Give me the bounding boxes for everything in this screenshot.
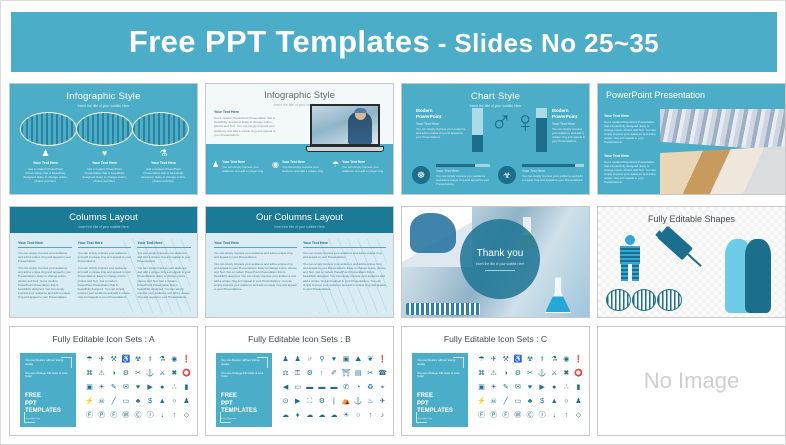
icon-cell: ▣: [84, 381, 95, 394]
column-paragraph-1: You can simply impress your audience and…: [303, 251, 386, 259]
slide-title: PowerPoint Presentation: [598, 84, 785, 100]
icon-cell: ▮: [181, 381, 192, 394]
icon-cell: ○: [353, 409, 364, 422]
icon-cell: ☢: [132, 353, 143, 366]
slide-header: Our Columns Layout Insert the title of y…: [206, 207, 393, 233]
icon-cell: ⚙: [304, 367, 315, 380]
icon-cell: ♪: [377, 409, 388, 422]
banner-title-main: Free PPT Templates: [129, 24, 430, 59]
icon-cell: Ⓒ: [524, 409, 535, 422]
icon-cell: ◇: [181, 409, 192, 422]
icon-cell: ♣: [132, 395, 143, 408]
slide-thumbnail-columns-layout[interactable]: Columns Layout Insert the title of your …: [9, 206, 198, 318]
slide-title: Our Columns Layout: [206, 207, 393, 223]
icon-cell: ♨: [365, 395, 376, 408]
slide-header: Columns Layout Insert the title of your …: [10, 207, 197, 233]
icon-cell: ✈: [96, 353, 107, 366]
icon-cell: ○: [169, 395, 180, 408]
card-templates-label: TEMPLATES: [417, 408, 453, 414]
block-body: Get a modern PowerPoint Presentation tha…: [604, 160, 658, 184]
icon-cell: ◇: [573, 409, 584, 422]
banner-title-separator: -: [430, 28, 454, 58]
progress-bar: [522, 164, 584, 167]
icon-cell: ⚠: [488, 367, 499, 380]
dna-strand-icon: [132, 112, 189, 146]
biohazard-icon: ☣: [498, 166, 516, 184]
icon-cell: ◉: [169, 353, 180, 366]
card-free-label: FREE: [25, 393, 41, 399]
icon-cell: Ⓒ: [132, 409, 143, 422]
icon-cell: ▶: [145, 381, 156, 394]
icon-grid-b: ♟♟♂⚲♥▣⛰❦❗⚖⚿⚙↑✐⛩▤✂☎◀▭▬▬▬✆◔♻⌖⊙▶⛶⚙❘⛺⚓♨✈☁♦☁☁…: [280, 353, 388, 422]
icon-cell: ☀: [96, 381, 107, 394]
row-heading: Your Text Here: [436, 169, 490, 173]
icon-cell: ♣: [524, 395, 535, 408]
column-heading: Your Text Here: [214, 241, 297, 248]
icon-cell: ↓: [157, 409, 168, 422]
droplet-icon: ☂: [332, 160, 339, 173]
text-column: Your Text Here You can simply impress yo…: [303, 241, 386, 291]
slide-thumbnail-chart-style[interactable]: Chart Style Insert the title of your sub…: [401, 83, 590, 195]
icon-cell: ☂: [84, 353, 95, 366]
icon-cell: ⚗: [157, 353, 168, 366]
icon-cell: ♿: [120, 353, 131, 366]
icon-grid-a: ☂✈⚒♿☢⚕⚗◉❗⌘⚠◑⚙✂⚓⚔✖⭕▣☀✎✉♥▶●∴▮⚡☠╱▭♣$▲○♟ⒻⓅⒻⓌ…: [84, 353, 192, 422]
feature-column: ⚗ Your Text Here Get a modern PowerPoint…: [138, 148, 190, 183]
icon-cell: ↑: [169, 409, 180, 422]
right-body: You can simply impress your audience and…: [552, 127, 588, 143]
item-body: You can simply impress your audience and…: [222, 165, 269, 173]
card-line-2: You can Change Fill Color & Line Color: [221, 372, 267, 380]
column-heading: Your Text Here: [303, 241, 386, 248]
card-url: www.allppt.com: [25, 418, 71, 420]
card-line-1: You can Resize without losing quality: [417, 359, 463, 367]
icon-cell: ⛶: [304, 395, 315, 408]
icon-cell: ▭: [292, 381, 303, 394]
icon-cell: ↓: [549, 409, 560, 422]
icon-cell: ◑: [108, 367, 119, 380]
icon-cell: ⭕: [573, 367, 584, 380]
laptop-screen: [310, 104, 380, 146]
free-ppt-card: You can Resize without losing quality Yo…: [216, 353, 272, 427]
icon-cell: ⚲: [316, 353, 327, 366]
icon-cell: ▭: [120, 395, 131, 408]
block-heading: Your Text Here: [604, 154, 658, 158]
block-body: Get a modern PowerPoint Presentation tha…: [604, 120, 658, 144]
icon-cell: ⚒: [500, 353, 511, 366]
icon-cell: ∴: [169, 381, 180, 394]
item-body: You can simply impress your audience and…: [342, 165, 389, 173]
icon-text-row: ♟ Your Text Here You can simply impress …: [212, 160, 389, 173]
column-set: Your Text Here You can simply impress yo…: [18, 241, 191, 299]
icon-cell: ❗: [573, 353, 584, 366]
icon-cell: ☁: [316, 409, 327, 422]
icon-cell: ⊙: [280, 395, 291, 408]
icon-cell: ⭕: [181, 367, 192, 380]
icon-cell: ✉: [120, 381, 131, 394]
icon-cell: ❗: [181, 353, 192, 366]
icon-cell: Ⓕ: [476, 409, 487, 422]
icon-cell: Ⓕ: [500, 409, 511, 422]
icon-cell: ✂: [524, 367, 535, 380]
icon-cell: ▭: [512, 395, 523, 408]
row-heading: Your Text Here: [522, 169, 584, 173]
icon-cell: ⚓: [145, 367, 156, 380]
slide-thumbnail-icon-sets-b[interactable]: Fully Editable Icon Sets : B You can Res…: [205, 326, 394, 436]
icon-cell: ▲: [157, 395, 168, 408]
slide-subtitle: Insert the title of your subtitle Here: [476, 262, 525, 266]
card-ppt-label: PPT: [25, 401, 37, 407]
icon-cell: ↑: [365, 409, 376, 422]
icon-cell: ✖: [169, 367, 180, 380]
icon-cell: ⌘: [476, 367, 487, 380]
feature-column: ♥ Your Text Here Get a modern PowerPoint…: [79, 148, 131, 183]
card-ppt-label: PPT: [417, 401, 429, 407]
icon-cell: ▣: [476, 381, 487, 394]
flask-blue: [545, 277, 571, 313]
slide-subtitle: Insert the title of your subtitle Here: [206, 223, 393, 229]
icon-cell: ⚿: [292, 367, 303, 380]
slide-title: Fully Editable Icon Sets : A: [10, 327, 197, 344]
column-heading: Your Text Here: [137, 241, 191, 248]
column-paragraph-2: You can simply impress your audience and…: [18, 266, 72, 299]
slide-grid: Infographic Style Insert the title of yo…: [9, 83, 779, 439]
test-tube-rack: [406, 303, 480, 315]
right-heading: Your Text Here: [552, 122, 588, 126]
column-paragraph-2: You can simply impress your audience and…: [214, 262, 297, 291]
icon-cell: ▬: [304, 381, 315, 394]
slide-title-bar: PowerPoint Presentation: [598, 84, 785, 109]
icon-cell: ▣: [341, 353, 352, 366]
icon-cell: ●: [157, 381, 168, 394]
lead-text-block: Your Text Here Get a modern PowerPoint P…: [214, 110, 280, 137]
icon-cell: ☀: [341, 409, 352, 422]
card-ppt-label: PPT: [221, 401, 233, 407]
icon-cell: ☂: [476, 353, 487, 366]
icon-cell: ✎: [108, 381, 119, 394]
icon-text-item: ♟ Your Text Here You can simply impress …: [212, 160, 269, 173]
icon-cell: ✐: [328, 367, 339, 380]
molecule-icon: ☸: [412, 166, 430, 184]
block-heading: Your Text Here: [604, 114, 658, 118]
icon-cell: Ⓦ: [512, 409, 523, 422]
card-url: www.allppt.com: [417, 418, 463, 420]
tooth-icon: ♟: [20, 148, 72, 159]
lead-body: Get a modern PowerPoint Presentation tha…: [214, 116, 280, 137]
chart-right-caption: Modern PowerPoint Your Text Here You can…: [552, 108, 588, 143]
icon-cell: ☁: [328, 409, 339, 422]
left-modern-label: Modern: [416, 108, 433, 113]
icon-cell: ♦: [292, 409, 303, 422]
icon-cell: ▤: [353, 367, 364, 380]
icon-cell: ♂: [304, 353, 315, 366]
chart-bottom-row-right: Your Text Here You can simply impress yo…: [522, 164, 584, 182]
feature-body: Get a modern PowerPoint Presentation tha…: [79, 167, 131, 184]
icon-cell: ⚙: [120, 367, 131, 380]
card-line-1: You can Resize without losing quality: [221, 359, 267, 367]
icon-cell: ⚕: [537, 353, 548, 366]
gloved-hand: [410, 213, 456, 253]
tooth-icon: ♟: [212, 160, 219, 173]
slide-thumbnail-our-columns-layout[interactable]: Our Columns Layout Insert the title of y…: [205, 206, 394, 318]
slide-thumbnail-thank-you[interactable]: Thank you Insert the title of your subti…: [401, 206, 590, 318]
icon-cell: ♻: [365, 381, 376, 394]
slide-title: Infographic Style: [206, 84, 393, 101]
icon-cell: ♟: [292, 353, 303, 366]
icon-cell: ☁: [280, 409, 291, 422]
chart-bottom-row-left: Your Text Here You can simply impress yo…: [436, 164, 490, 186]
right-powerpoint-label: PowerPoint: [552, 114, 577, 119]
dna-helix-graphic: [20, 112, 189, 146]
text-block-top: Your Text Here Get a modern PowerPoint P…: [604, 114, 658, 144]
slide-title: Fully Editable Icon Sets : C: [402, 327, 589, 344]
feature-heading: Your Text Here: [79, 161, 131, 165]
progress-bar: [436, 164, 490, 167]
icon-cell: ♟: [280, 353, 291, 366]
icon-cell: ☠: [488, 395, 499, 408]
icon-cell: ⚙: [512, 367, 523, 380]
row-body: You can simply impress your audience and…: [522, 174, 584, 182]
chart-bar-left: [472, 108, 483, 152]
card-templates-label: TEMPLATES: [25, 408, 61, 414]
free-ppt-card: You can Resize without losing quality Yo…: [412, 353, 468, 427]
dna-strand-icon: [76, 112, 133, 146]
left-heading: Your Text Here: [416, 122, 468, 126]
banner-title: Free PPT Templates - Slides No 25~35: [129, 24, 659, 60]
laptop-base: [306, 146, 384, 152]
slide-thumbnail-icon-sets-c[interactable]: Fully Editable Icon Sets : C You can Res…: [401, 326, 590, 436]
icon-cell: ✈: [488, 353, 499, 366]
card-free-label: FREE: [221, 393, 237, 399]
slide-thumbnail-no-image[interactable]: No Image: [597, 326, 786, 436]
icon-cell: ☀: [488, 381, 499, 394]
icon-cell: Ⓟ: [488, 409, 499, 422]
heart-shield-icon: ♥: [79, 148, 131, 159]
thank-you-circle: Thank you Insert the title of your subti…: [460, 219, 540, 299]
icon-cell: ⚔: [549, 367, 560, 380]
eye-icon: ◉: [272, 160, 279, 173]
icon-cell: ╱: [108, 395, 119, 408]
lab-vials-photo: [660, 109, 786, 151]
icon-cell: ⚓: [537, 367, 548, 380]
left-powerpoint-label: PowerPoint: [416, 114, 441, 119]
icon-cell: ●: [549, 381, 560, 394]
icon-cell: ☠: [96, 395, 107, 408]
mortar-pestle-icon: ⚗: [138, 148, 190, 159]
icon-cell: ✉: [512, 381, 523, 394]
icon-cell: ▲: [549, 395, 560, 408]
icon-cell: ⚗: [549, 353, 560, 366]
icon-cell: ⚠: [96, 367, 107, 380]
banner-title-sub: Slides No 25~35: [454, 28, 659, 58]
feature-heading: Your Text Here: [138, 161, 190, 165]
icon-cell: ⌖: [377, 381, 388, 394]
preview-page: Free PPT Templates - Slides No 25~35 Inf…: [0, 0, 786, 445]
item-heading: Your Text Here: [282, 160, 329, 164]
icon-cell: ⚡: [476, 395, 487, 408]
icon-cell: ⚓: [353, 395, 364, 408]
no-image-placeholder: No Image: [598, 327, 785, 435]
icon-cell: ⚕: [145, 353, 156, 366]
slide-thumbnail-icon-sets-a[interactable]: Fully Editable Icon Sets : A You can Res…: [9, 326, 198, 436]
divider: [485, 270, 515, 271]
icon-cell: ⌘: [84, 367, 95, 380]
syringe-icon: [654, 233, 708, 289]
icon-cell: Ⓘ: [537, 409, 548, 422]
item-body: You can simply impress your audience and…: [282, 165, 329, 173]
icon-cell: ♥: [524, 381, 535, 394]
icon-cell: ↑: [316, 367, 327, 380]
left-body: You can simply impress your audience and…: [416, 127, 468, 139]
icon-text-item: ☂ Your Text Here You can simply impress …: [332, 160, 389, 173]
feature-heading: Your Text Here: [20, 161, 72, 165]
slide-thumbnail-powerpoint-presentation[interactable]: PowerPoint Presentation Your Text Here G…: [597, 83, 786, 195]
slide-title: Columns Layout: [10, 207, 197, 223]
icon-cell: ♟: [573, 395, 584, 408]
icon-text-item: ◉ Your Text Here You can simply impress …: [272, 160, 329, 173]
icon-cell: $: [145, 395, 156, 408]
icon-cell: Ⓕ: [108, 409, 119, 422]
icon-cell: Ⓕ: [84, 409, 95, 422]
icon-cell: ✆: [341, 381, 352, 394]
icon-cell: ⚖: [280, 367, 291, 380]
column-paragraph-1: You can simply impress your audience and…: [18, 251, 72, 263]
slide-title: Thank you: [477, 248, 524, 259]
icon-cell: ◔: [353, 381, 364, 394]
card-url: www.allppt.com: [221, 418, 267, 420]
icon-cell: ♟: [181, 395, 192, 408]
icon-cell: ♥: [328, 353, 339, 366]
chart-left-caption: Modern PowerPoint Your Text Here You can…: [416, 108, 468, 139]
male-figure-icon: ♂: [490, 108, 513, 138]
icon-cell: ▶: [537, 381, 548, 394]
page-banner: Free PPT Templates - Slides No 25~35: [11, 12, 777, 72]
icon-cell: $: [537, 395, 548, 408]
text-block-bottom: Your Text Here Get a modern PowerPoint P…: [604, 154, 658, 184]
icon-cell: ▶: [292, 395, 303, 408]
card-line-1: You can Resize without losing quality: [25, 359, 71, 367]
feature-body: Get a modern PowerPoint Presentation tha…: [138, 167, 190, 184]
card-line-2: You can Change Fill Color & Line Color: [25, 372, 71, 380]
icon-cell: ♥: [132, 381, 143, 394]
icon-cell: ⚡: [84, 395, 95, 408]
column-paragraph-1: You can simply impress your audience and…: [137, 251, 191, 263]
icon-cell: ☢: [524, 353, 535, 366]
icon-cell: ☁: [304, 409, 315, 422]
icon-cell: ◑: [500, 367, 511, 380]
icon-cell: ❦: [365, 353, 376, 366]
slide-thumbnail-editable-shapes[interactable]: Fully Editable Shapes: [597, 206, 786, 318]
column-paragraph-1: You can simply impress your audience and…: [214, 251, 297, 259]
icon-cell: ⛰: [353, 353, 364, 366]
icon-cell: ❘: [328, 395, 339, 408]
slide-title: Fully Editable Icon Sets : B: [206, 327, 393, 344]
slide-title: Fully Editable Shapes: [598, 207, 785, 224]
icon-cell: ▬: [316, 381, 327, 394]
column-paragraph-2: You can simply impress your audience and…: [78, 266, 132, 299]
icon-cell: ∴: [561, 381, 572, 394]
icon-cell: ✂: [365, 367, 376, 380]
slide-title: Infographic Style: [10, 84, 197, 102]
icon-cell: ✂: [132, 367, 143, 380]
body-silhouette-dark: [745, 239, 771, 313]
icon-cell: ╱: [500, 395, 511, 408]
icon-cell: ⚔: [157, 367, 168, 380]
column-paragraph-2: You can simply impress your audience and…: [137, 266, 191, 299]
icon-cell: ⚒: [108, 353, 119, 366]
icon-cell: ◀: [280, 381, 291, 394]
icon-cell: ⛩: [341, 367, 352, 380]
lead-heading: Your Text Here: [214, 110, 280, 114]
icon-grid-c: ☂✈⚒♿☢⚕⚗◉❗⌘⚠◑⚙✂⚓⚔✖⭕▣☀✎✉♥▶●∴▮⚡☠╱▭♣$▲○♟ⒻⓅⒻⓌ…: [476, 353, 584, 422]
icon-cell: Ⓟ: [96, 409, 107, 422]
icon-cell: ♿: [512, 353, 523, 366]
card-line-2: You can Change Fill Color & Line Color: [417, 372, 463, 380]
icon-cell: ✎: [500, 381, 511, 394]
dna-helix-icon: [606, 289, 682, 311]
column-heading: Your Text Here: [18, 241, 72, 248]
icon-cell: ◉: [561, 353, 572, 366]
icon-cell: ❗: [377, 353, 388, 366]
doctor-cap: [354, 108, 367, 113]
slide-thumbnail-infographic-laptop[interactable]: Infographic Style Insert the title of yo…: [205, 83, 394, 195]
laptop-mockup: [306, 104, 384, 156]
row-body: You can simply impress your audience and…: [436, 174, 490, 186]
card-free-label: FREE: [417, 393, 433, 399]
text-column: Your Text Here You can simply impress yo…: [78, 241, 132, 299]
icon-cell: ⛺: [341, 395, 352, 408]
icon-cell: ⚙: [316, 395, 327, 408]
icon-cell: ▮: [573, 381, 584, 394]
slide-title: Chart Style: [402, 84, 589, 102]
card-templates-label: TEMPLATES: [221, 408, 257, 414]
slide-subtitle: Insert the title of your subtitle Here: [10, 223, 197, 229]
icon-cell: ✖: [561, 367, 572, 380]
column-set: Your Text Here You can simply impress yo…: [214, 241, 387, 291]
feature-body: Get a modern PowerPoint Presentation tha…: [20, 167, 72, 184]
column-paragraph-1: You can simply impress your audience and…: [78, 251, 132, 263]
icon-cell: ▬: [328, 381, 339, 394]
dna-strand-icon: [20, 112, 77, 146]
icon-cell: Ⓘ: [145, 409, 156, 422]
chart-bar-right: [536, 108, 547, 152]
item-heading: Your Text Here: [342, 160, 389, 164]
feature-columns: ♟ Your Text Here Get a modern PowerPoint…: [16, 148, 193, 183]
feature-column: ♟ Your Text Here Get a modern PowerPoint…: [20, 148, 72, 183]
icon-cell: ✈: [377, 395, 388, 408]
pills-capsules-photo: [660, 146, 786, 195]
text-column: Your Text Here You can simply impress yo…: [214, 241, 297, 291]
human-figure-icon: [620, 235, 640, 281]
slide-thumbnail-infographic-dna[interactable]: Infographic Style Insert the title of yo…: [9, 83, 198, 195]
icon-cell: ○: [561, 395, 572, 408]
icon-cell: ☎: [377, 367, 388, 380]
item-heading: Your Text Here: [222, 160, 269, 164]
free-ppt-card: You can Resize without losing quality Yo…: [20, 353, 76, 427]
icon-cell: ↑: [561, 409, 572, 422]
icon-cell: Ⓦ: [120, 409, 131, 422]
text-column: Your Text Here You can simply impress yo…: [18, 241, 72, 299]
text-column: Your Text Here You can simply impress yo…: [137, 241, 191, 299]
female-figure-icon: ♀: [514, 108, 537, 138]
column-heading: Your Text Here: [78, 241, 132, 248]
column-paragraph-2: You can simply impress your audience and…: [303, 262, 386, 291]
right-modern-label: Modern: [552, 108, 569, 113]
slide-subtitle: Insert the title of your subtitle Here: [10, 102, 197, 108]
